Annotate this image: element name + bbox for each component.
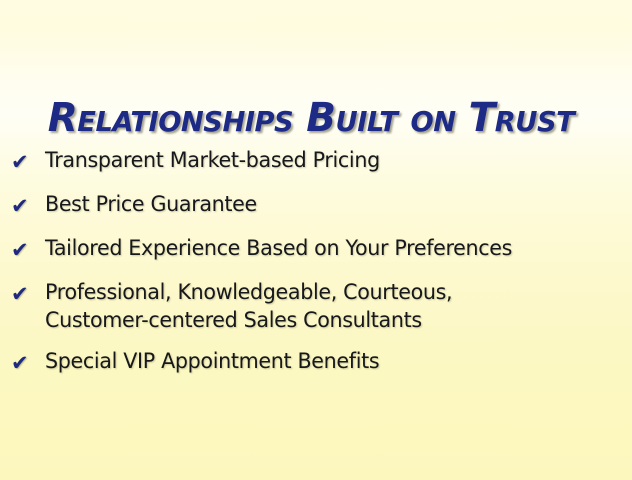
benefits-list: ✔ Transparent Market-based Pricing ✔ Bes… xyxy=(0,147,632,392)
list-item-label: Special VIP Appointment Benefits xyxy=(45,348,609,375)
list-item-label: Tailored Experience Based on Your Prefer… xyxy=(45,235,609,262)
list-item: ✔ Professional, Knowledgeable, Courteous… xyxy=(0,279,632,334)
checkmark-icon: ✔ xyxy=(11,282,37,306)
list-item-label-continued: Customer-centered Sales Consultants xyxy=(45,307,609,334)
list-item-label: Best Price Guarantee xyxy=(45,191,609,218)
list-item: ✔ Transparent Market-based Pricing xyxy=(0,147,632,175)
checkmark-icon: ✔ xyxy=(11,194,37,218)
page-title: Relationships Built on Trust xyxy=(0,96,616,140)
checkmark-icon: ✔ xyxy=(11,351,37,375)
list-item: ✔ Special VIP Appointment Benefits xyxy=(0,348,632,376)
list-item: ✔ Best Price Guarantee xyxy=(0,191,632,219)
list-item: ✔ Tailored Experience Based on Your Pref… xyxy=(0,235,632,263)
list-item-label: Professional, Knowledgeable, Courteous, xyxy=(45,279,609,306)
promotional-slide: Relationships Built on Trust ✔ Transpare… xyxy=(0,0,632,480)
checkmark-icon: ✔ xyxy=(11,150,37,174)
list-item-label: Transparent Market-based Pricing xyxy=(45,147,609,174)
checkmark-icon: ✔ xyxy=(11,238,37,262)
